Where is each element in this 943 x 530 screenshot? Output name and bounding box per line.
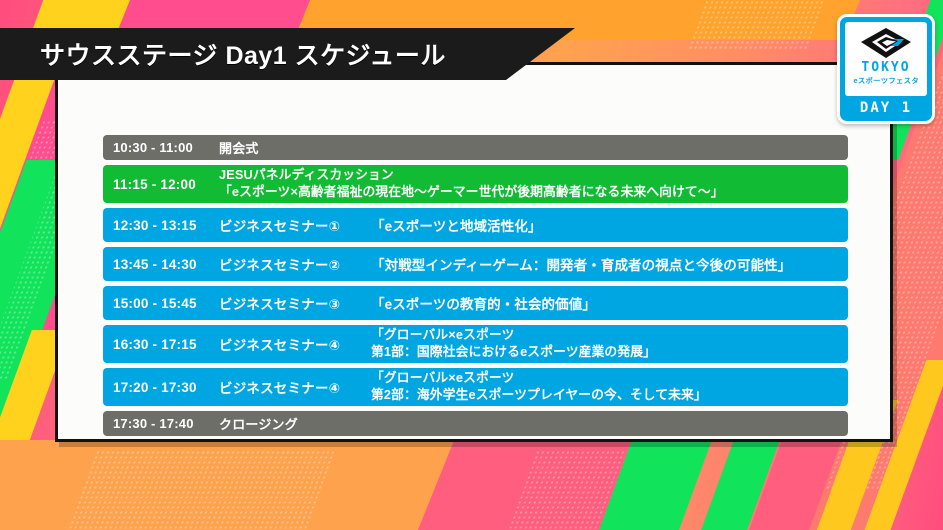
schedule-row-title: 「eスポーツの教育的・社会的価値」 xyxy=(371,293,596,313)
schedule-row-seminar: ビジネスセミナー② xyxy=(219,254,371,274)
schedule-row: 10:30 - 11:00開会式 xyxy=(103,135,848,160)
schedule-row-title-line: 「グローバル×eスポーツ xyxy=(371,370,707,387)
schedule-row: 17:30 - 17:40クロージング xyxy=(103,411,848,436)
schedule-row-title: 「対戦型インディーゲーム：開発者・育成者の視点と今後の可能性」 xyxy=(371,254,791,274)
schedule-row: 15:00 - 15:45ビジネスセミナー③「eスポーツの教育的・社会的価値」 xyxy=(103,286,848,320)
schedule-row-title-lines: 「グローバル×eスポーツ第1部：国際社会におけるeスポーツ産業の発展」 xyxy=(371,327,656,361)
badge-inner-panel: TOKYO eスポーツフェスタ xyxy=(845,22,927,96)
schedule-row-body: ビジネスセミナー②「対戦型インディーゲーム：開発者・育成者の視点と今後の可能性」 xyxy=(219,254,848,274)
schedule-row-title-line: JESUパネルディスカッション xyxy=(219,167,724,184)
schedule-row-time: 12:30 - 13:15 xyxy=(103,218,219,233)
schedule-row-seminar: ビジネスセミナー④ xyxy=(219,377,371,397)
schedule-row-time: 10:30 - 11:00 xyxy=(103,140,219,155)
schedule-row-time: 17:30 - 17:40 xyxy=(103,416,219,431)
badge-tokyo-label: TOKYO xyxy=(861,60,910,75)
schedule-row-body: JESUパネルディスカッション「eスポーツ×高齢者福祉の現在地～ゲーマー世代が後… xyxy=(219,167,848,201)
schedule-row-time: 15:00 - 15:45 xyxy=(103,296,219,311)
schedule-row: 13:45 - 14:30ビジネスセミナー②「対戦型インディーゲーム：開発者・育… xyxy=(103,247,848,281)
schedule-row-label: 開会式 xyxy=(219,138,259,157)
schedule-row-title-lines: 「グローバル×eスポーツ第2部：海外学生eスポーツプレイヤーの今、そして未来」 xyxy=(371,370,707,404)
schedule-row-body: ビジネスセミナー③「eスポーツの教育的・社会的価値」 xyxy=(219,293,848,313)
schedule-list: 10:30 - 11:00開会式11:15 - 12:00JESUパネルディスカ… xyxy=(103,135,848,441)
schedule-row-time: 16:30 - 17:15 xyxy=(103,337,219,352)
schedule-row-body: ビジネスセミナー④「グローバル×eスポーツ第2部：海外学生eスポーツプレイヤーの… xyxy=(219,370,848,404)
schedule-row-body: ビジネスセミナー④「グローバル×eスポーツ第1部：国際社会におけるeスポーツ産業… xyxy=(219,327,848,361)
schedule-row: 17:20 - 17:30ビジネスセミナー④「グローバル×eスポーツ第2部：海外… xyxy=(103,368,848,406)
schedule-row: 11:15 - 12:00JESUパネルディスカッション「eスポーツ×高齢者福祉… xyxy=(103,165,848,203)
schedule-row: 16:30 - 17:15ビジネスセミナー④「グローバル×eスポーツ第1部：国際… xyxy=(103,325,848,363)
title-banner: サウスステージ Day1 スケジュール xyxy=(0,28,575,80)
background-dots-bottom xyxy=(64,450,337,530)
schedule-row-time: 17:20 - 17:30 xyxy=(103,380,219,395)
schedule-row-title: 「eスポーツと地域活性化」 xyxy=(371,215,542,235)
schedule-row-body: クロージング xyxy=(219,414,848,433)
schedule-row-body: 開会式 xyxy=(219,138,848,157)
event-badge: TOKYO eスポーツフェスタ DAY 1 xyxy=(837,14,935,124)
schedule-row-body: ビジネスセミナー①「eスポーツと地域活性化」 xyxy=(219,215,848,235)
e-logo-icon xyxy=(860,27,912,59)
schedule-row-label: クロージング xyxy=(219,414,298,433)
schedule-row-seminar: ビジネスセミナー③ xyxy=(219,293,371,313)
schedule-row: 12:30 - 13:15ビジネスセミナー①「eスポーツと地域活性化」 xyxy=(103,208,848,242)
schedule-row-time: 13:45 - 14:30 xyxy=(103,257,219,272)
schedule-row-title-line: 「グローバル×eスポーツ xyxy=(371,327,656,344)
badge-day-label: DAY 1 xyxy=(860,100,912,116)
schedule-row-seminar: ビジネスセミナー④ xyxy=(219,334,371,354)
badge-subtitle: eスポーツフェスタ xyxy=(853,76,919,86)
schedule-row-title-line: 「eスポーツ×高齢者福祉の現在地～ゲーマー世代が後期高齢者になる未来へ向けて～」 xyxy=(219,184,724,201)
schedule-row-title-lines: JESUパネルディスカッション「eスポーツ×高齢者福祉の現在地～ゲーマー世代が後… xyxy=(219,167,724,201)
schedule-row-title-line: 第2部：海外学生eスポーツプレイヤーの今、そして未来」 xyxy=(371,387,707,404)
schedule-row-title-line: 第1部：国際社会におけるeスポーツ産業の発展」 xyxy=(371,344,656,361)
page-title: サウスステージ Day1 スケジュール xyxy=(40,36,446,72)
schedule-row-seminar: ビジネスセミナー① xyxy=(219,215,371,235)
schedule-row-time: 11:15 - 12:00 xyxy=(103,177,219,192)
